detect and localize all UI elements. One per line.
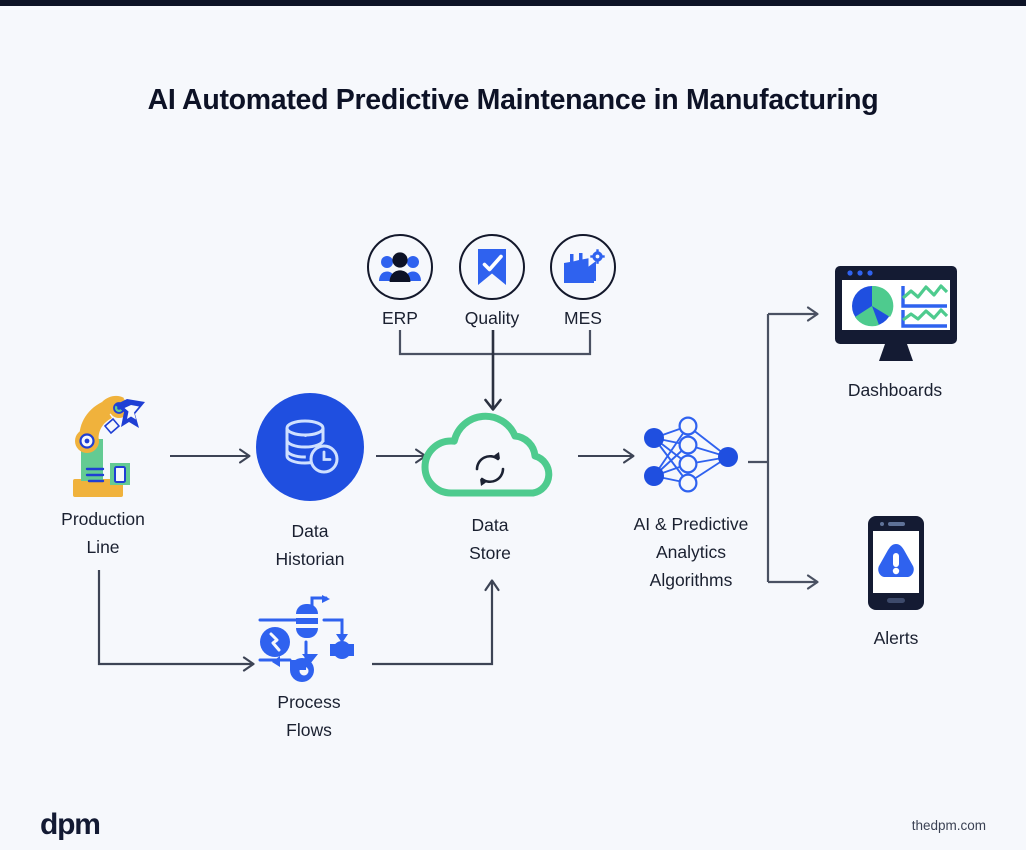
robot-arm-icon (55, 391, 151, 501)
node-label-production-line: Production Line (28, 505, 178, 561)
data-historian-circle (256, 393, 364, 501)
neural-network-icon (640, 414, 744, 500)
mes-circle (550, 234, 616, 300)
node-dashboards[interactable]: Dashboards (833, 264, 975, 404)
connector-production-to-historian (170, 446, 260, 466)
system-mes[interactable]: MES (550, 234, 638, 329)
node-label-process-flows: Process Flows (234, 688, 384, 744)
page-title: AI Automated Predictive Maintenance in M… (0, 84, 1026, 117)
people-icon (379, 250, 421, 284)
node-data-historian[interactable]: Data Historian (256, 393, 385, 573)
database-clock-icon (279, 416, 341, 478)
process-diagram-icon (256, 594, 362, 682)
monitor-charts-icon (833, 264, 959, 362)
node-label-data-historian: Data Historian (235, 517, 385, 573)
node-label-data-store: Data Store (415, 511, 565, 567)
factory-gear-icon (562, 249, 604, 285)
node-data-store[interactable]: Data Store (418, 409, 568, 567)
quality-circle (459, 234, 525, 300)
connector-ai-to-outputs (748, 302, 828, 590)
erp-circle (367, 234, 433, 300)
node-alerts[interactable]: Alerts (866, 514, 956, 652)
cloud-sync-icon (418, 409, 568, 499)
connector-datastore-to-ai (578, 446, 644, 466)
connector-production-to-processflows (96, 568, 264, 676)
diagram-canvas: AI Automated Predictive Maintenance in M… (0, 6, 1026, 850)
node-label-dashboards: Dashboards (815, 376, 975, 404)
connector-processflows-to-datastore (370, 568, 504, 676)
system-label-mes: MES (528, 308, 638, 329)
bookmark-check-icon (475, 247, 509, 287)
footer-url: thedpm.com (912, 818, 986, 833)
phone-alert-icon (866, 514, 926, 612)
node-production-line[interactable]: Production Line (55, 391, 178, 561)
connector-systems-to-datastore (390, 328, 600, 420)
node-process-flows[interactable]: Process Flows (256, 594, 384, 744)
dpm-logo: dpm (40, 808, 100, 842)
node-label-alerts: Alerts (836, 624, 956, 652)
